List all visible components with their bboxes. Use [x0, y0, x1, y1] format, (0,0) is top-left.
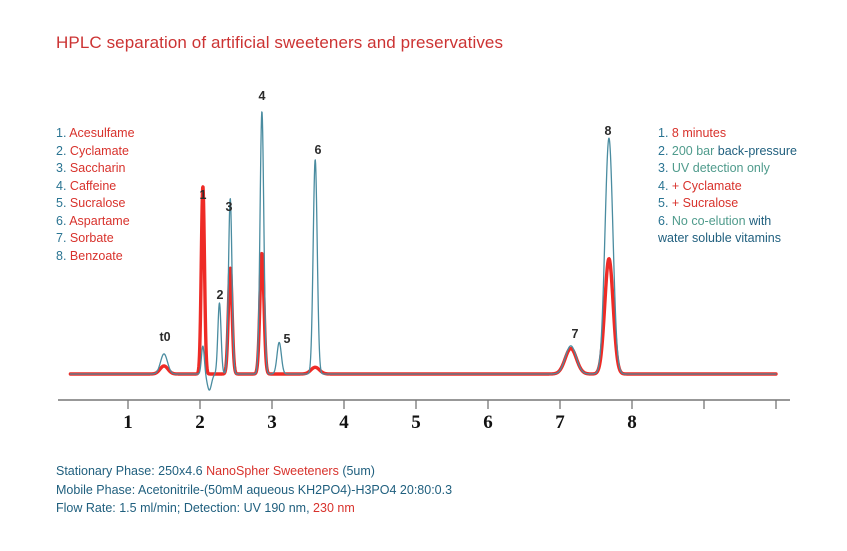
peak-label-8: 8 [605, 124, 612, 138]
caption-line-2: Mobile Phase: Acetonitrile-(50mM aqueous… [56, 481, 452, 500]
peak-label-4: 4 [259, 89, 266, 103]
x-axis-tick-label-3: 3 [267, 412, 277, 434]
trace-group [70, 112, 776, 390]
caption-line-1: Stationary Phase: 250x4.6 NanoSpher Swee… [56, 462, 452, 481]
trace-230-nm [70, 187, 776, 374]
peak-label-5: 5 [284, 332, 291, 346]
x-axis-tick-label-5: 5 [411, 412, 421, 434]
x-axis-tick-label-2: 2 [195, 412, 205, 434]
peak-label-1: 1 [200, 188, 207, 202]
peak-label-7: 7 [572, 327, 579, 341]
x-axis-tick-label-4: 4 [339, 412, 349, 434]
peak-label-6: 6 [315, 143, 322, 157]
caption-segment: NanoSpher Sweeteners [206, 464, 339, 478]
method-caption: Stationary Phase: 250x4.6 NanoSpher Swee… [56, 462, 452, 518]
peak-label-t0: t0 [159, 330, 170, 344]
x-axis-tick-label-8: 8 [627, 412, 637, 434]
caption-segment: Flow Rate: 1.5 ml/min; Detection: UV 190… [56, 501, 313, 515]
x-axis-tick-label-7: 7 [555, 412, 565, 434]
caption-segment: 230 nm [313, 501, 355, 515]
caption-segment: Stationary Phase: 250x4.6 [56, 464, 206, 478]
trace-uv-190-nm [70, 112, 776, 390]
x-axis [58, 400, 790, 409]
x-axis-tick-label-1: 1 [123, 412, 133, 434]
caption-segment: Mobile Phase: Acetonitrile-(50mM aqueous… [56, 483, 452, 497]
peak-label-3: 3 [226, 200, 233, 214]
caption-line-3: Flow Rate: 1.5 ml/min; Detection: UV 190… [56, 499, 452, 518]
peak-label-2: 2 [217, 288, 224, 302]
x-axis-tick-label-6: 6 [483, 412, 493, 434]
caption-segment: (5um) [339, 464, 375, 478]
